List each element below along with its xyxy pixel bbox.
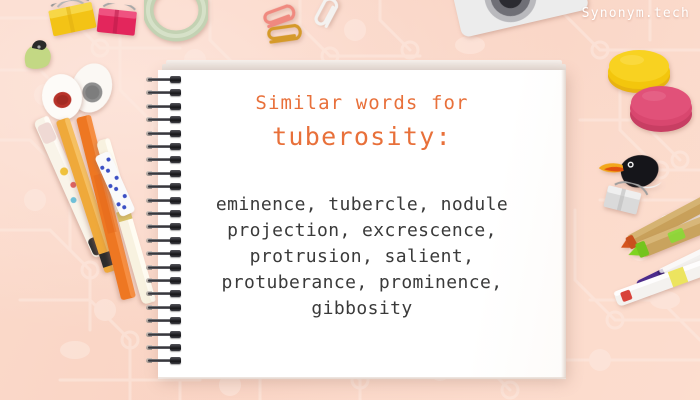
spiral-coil: [146, 210, 186, 217]
headword: tuberosity:: [158, 122, 566, 151]
spiral-coil: [146, 317, 186, 324]
title-prefix: Similar words for: [158, 92, 566, 114]
spiral-binding: [146, 76, 190, 372]
spiral-coil: [146, 156, 186, 163]
spiral-coil: [146, 290, 186, 297]
spiral-coil: [146, 89, 186, 96]
macaron-pink: [628, 78, 694, 136]
spiral-coil: [146, 237, 186, 244]
spiral-coil: [146, 223, 186, 230]
spiral-coil: [146, 103, 186, 110]
spiral-coil: [146, 344, 186, 351]
spiral-coil: [146, 277, 186, 284]
spiral-coil: [146, 183, 186, 190]
synonyms-text: eminence, tubercle, nodule projection, e…: [186, 192, 538, 322]
spiral-coil: [146, 170, 186, 177]
binder-clip-pink: [94, 2, 141, 38]
spiral-coil: [146, 197, 186, 204]
spiral-coil: [146, 331, 186, 338]
spiral-coil: [146, 116, 186, 123]
spiral-coil: [146, 304, 186, 311]
spiral-coil: [146, 76, 186, 83]
spiral-coil: [146, 264, 186, 271]
spiral-coil: [146, 130, 186, 137]
desk-scene: Similar words for tuberosity: eminence, …: [0, 0, 700, 400]
washi-tape-roll: [144, 0, 208, 42]
spiral-coil: [146, 357, 186, 364]
spiral-coil: [146, 143, 186, 150]
brand-watermark: Synonym.tech: [582, 6, 690, 21]
bird-figurine-green: [20, 36, 56, 70]
notepad: Similar words for tuberosity: eminence, …: [158, 70, 566, 378]
page-bottom-shadow: [158, 377, 566, 381]
spiral-coil: [146, 250, 186, 257]
notepad-page: Similar words for tuberosity: eminence, …: [158, 70, 566, 378]
card-content: Similar words for tuberosity: eminence, …: [158, 70, 566, 378]
